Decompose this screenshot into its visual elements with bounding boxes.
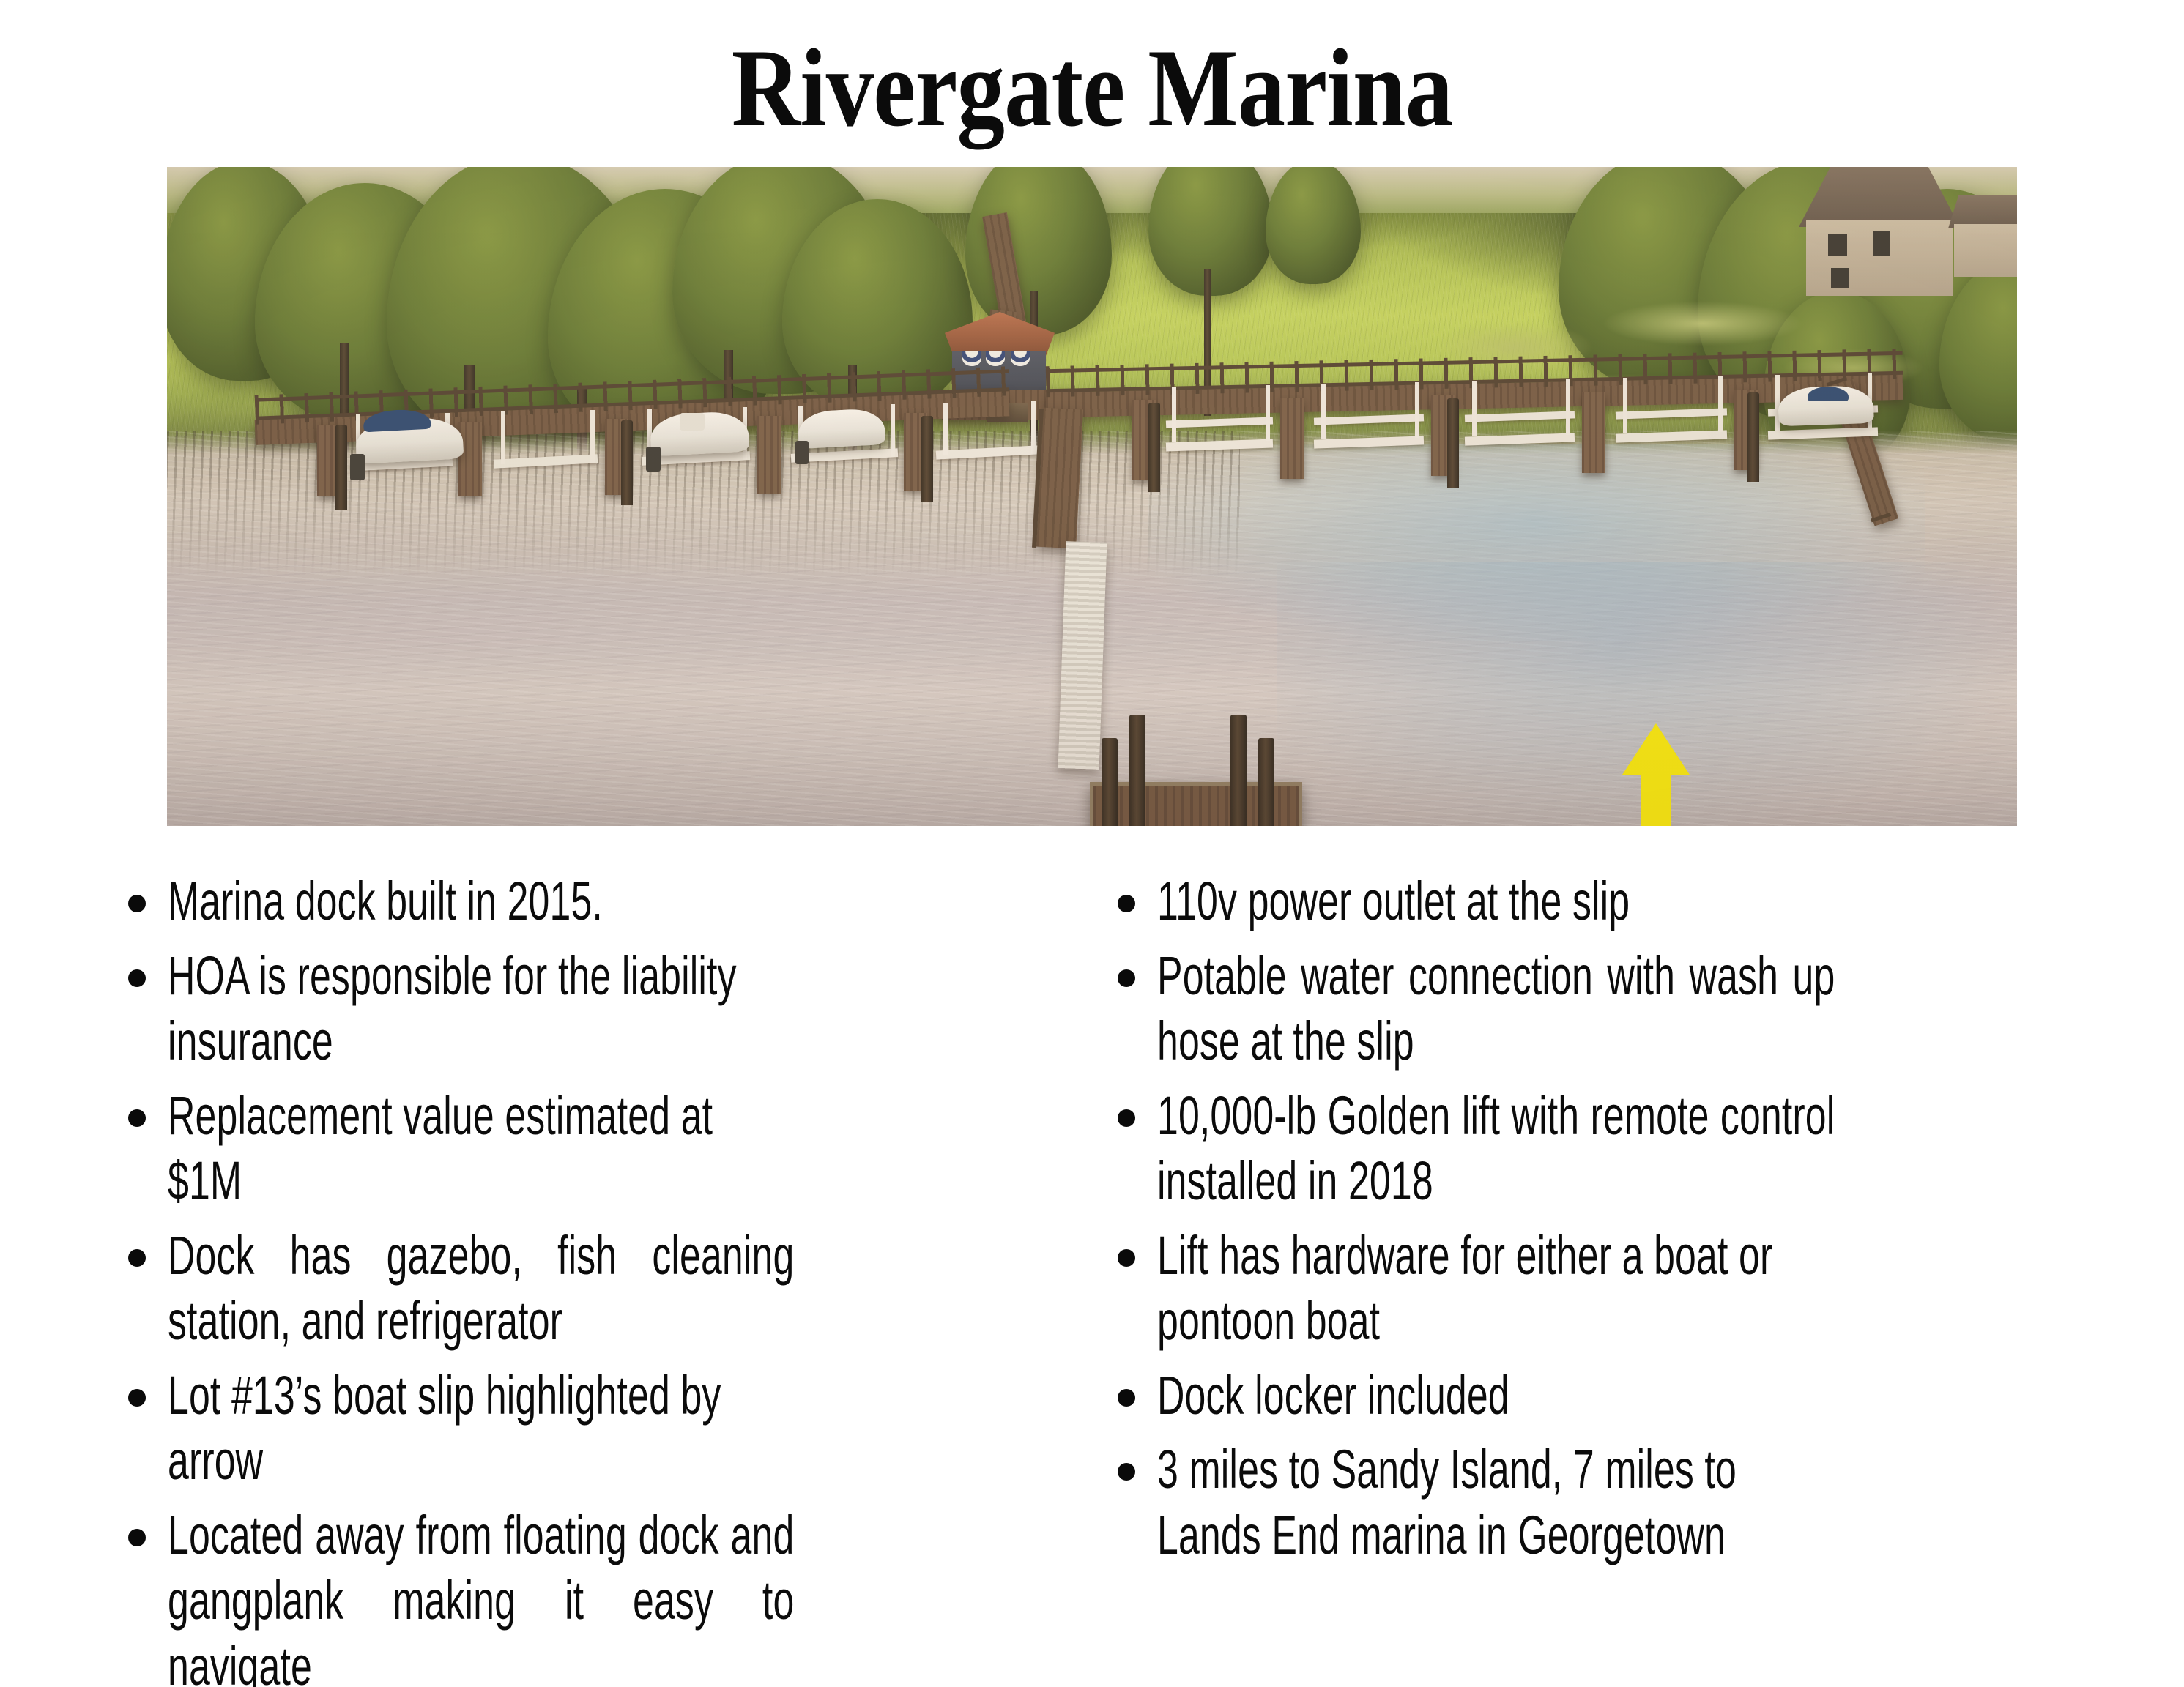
list-item-text: HOA is responsible for the liability ins… xyxy=(168,943,794,1074)
house-window xyxy=(1873,231,1890,256)
list-item: Dock has gazebo, fish cleaning station, … xyxy=(128,1223,1063,1354)
list-item: Marina dock built in 2015. xyxy=(128,868,1063,934)
list-item: 3 miles to Sandy Island, 7 miles to Land… xyxy=(1118,1437,2125,1568)
boat-lift-post xyxy=(943,403,948,455)
outboard-motor xyxy=(795,441,809,464)
list-item-text: Lot #13’s boat slip highlighted by arrow xyxy=(168,1363,794,1494)
house-window xyxy=(1828,234,1847,256)
list-item: HOA is responsible for the liability ins… xyxy=(128,943,1063,1074)
list-item-text: Lift has hardware for either a boat or p… xyxy=(1157,1223,1835,1354)
dock-piling xyxy=(1258,738,1274,826)
bullet-column-right: 110v power outlet at the slip Potable wa… xyxy=(1092,868,2184,1687)
boat-lift-post xyxy=(1266,385,1270,441)
list-item: Lift has hardware for either a boat or p… xyxy=(1118,1223,2125,1354)
dock-piling xyxy=(1102,738,1118,826)
bullet-dot-icon xyxy=(1118,1463,1135,1481)
list-item-text: Potable water connection with wash up ho… xyxy=(1157,943,1835,1074)
boat-lift-post xyxy=(1472,381,1477,436)
dock-piling xyxy=(1129,715,1145,826)
list-item-text: 10,000-lb Golden lift with remote contro… xyxy=(1157,1083,1835,1214)
bullet-dot-icon xyxy=(128,1389,146,1407)
boat-lift-post xyxy=(1718,376,1723,432)
list-item: 110v power outlet at the slip xyxy=(1118,868,2125,934)
bullet-dot-icon xyxy=(128,1249,146,1267)
slip-highlight-arrow xyxy=(1622,723,1690,826)
pier-piling xyxy=(1747,392,1759,482)
finger-pier xyxy=(1280,398,1304,479)
list-item: 10,000-lb Golden lift with remote contro… xyxy=(1118,1083,2125,1214)
finger-pier xyxy=(757,416,781,494)
list-item: Lot #13’s boat slip highlighted by arrow xyxy=(128,1363,1063,1494)
boat-console xyxy=(680,413,705,431)
bullet-dot-icon xyxy=(128,1109,146,1127)
pier-piling xyxy=(1148,403,1160,492)
bullet-dot-icon xyxy=(1118,895,1135,912)
boat-lift-post xyxy=(1172,387,1176,442)
list-item-text: 3 miles to Sandy Island, 7 miles to Land… xyxy=(1157,1437,1835,1568)
boat-lift-post xyxy=(1623,378,1627,433)
cypress-tree xyxy=(1266,167,1361,284)
dock-piling xyxy=(1230,715,1247,826)
gangplank xyxy=(1058,541,1107,770)
bullet-dot-icon xyxy=(1118,1109,1135,1127)
bullet-dot-icon xyxy=(128,1529,146,1546)
gazebo-bunting xyxy=(986,351,1005,366)
finger-pier xyxy=(458,422,482,496)
bullet-dot-icon xyxy=(128,969,146,987)
boat-canopy xyxy=(1808,387,1849,401)
list-item-text: Dock locker included xyxy=(1157,1363,1835,1429)
page-title: Rivergate Marina xyxy=(153,0,2032,144)
boat-lift-post xyxy=(590,410,595,463)
list-item-text: Replacement value estimated at $1M xyxy=(168,1083,794,1214)
gazebo-bunting xyxy=(962,351,981,366)
outboard-motor xyxy=(646,447,661,472)
pier-piling xyxy=(335,425,347,510)
list-item-text: 110v power outlet at the slip xyxy=(1157,868,1835,934)
house-annex-wall xyxy=(1954,224,2017,277)
list-item: Located away from floating dock and gang… xyxy=(128,1502,1063,1687)
feature-bullet-lists: Marina dock built in 2015. HOA is respon… xyxy=(0,868,2184,1687)
bullet-dot-icon xyxy=(1118,1249,1135,1267)
boat-lift-post xyxy=(1031,401,1036,454)
pier-piling xyxy=(1447,398,1459,488)
list-item-text: Marina dock built in 2015. xyxy=(168,868,794,934)
list-item: Replacement value estimated at $1M xyxy=(128,1083,1063,1214)
pier-piling xyxy=(921,416,933,502)
marina-aerial-photo xyxy=(167,167,2017,826)
bullet-dot-icon xyxy=(128,895,146,912)
finger-pier xyxy=(1582,392,1605,473)
pier-piling xyxy=(621,420,633,505)
boat-lift-post xyxy=(501,411,505,464)
outboard-motor xyxy=(350,454,365,480)
list-item-text: Located away from floating dock and gang… xyxy=(168,1502,794,1687)
bullet-dot-icon xyxy=(1118,1389,1135,1407)
boat-lift-post xyxy=(891,404,895,457)
center-walkway xyxy=(1036,408,1083,549)
list-item-text: Dock has gazebo, fish cleaning station, … xyxy=(168,1223,794,1354)
cypress-tree xyxy=(965,167,1112,335)
boat-lift-post xyxy=(1775,375,1780,431)
bullet-dot-icon xyxy=(1118,969,1135,987)
gazebo-bunting xyxy=(1011,351,1030,366)
list-item: Potable water connection with wash up ho… xyxy=(1118,943,2125,1074)
boat-lift-post xyxy=(1415,382,1419,438)
list-item: Dock locker included xyxy=(1118,1363,2125,1429)
boat-lift-post xyxy=(1566,379,1570,435)
bullet-column-left: Marina dock built in 2015. HOA is respon… xyxy=(0,868,1092,1687)
boat-lift-post xyxy=(1321,384,1326,439)
